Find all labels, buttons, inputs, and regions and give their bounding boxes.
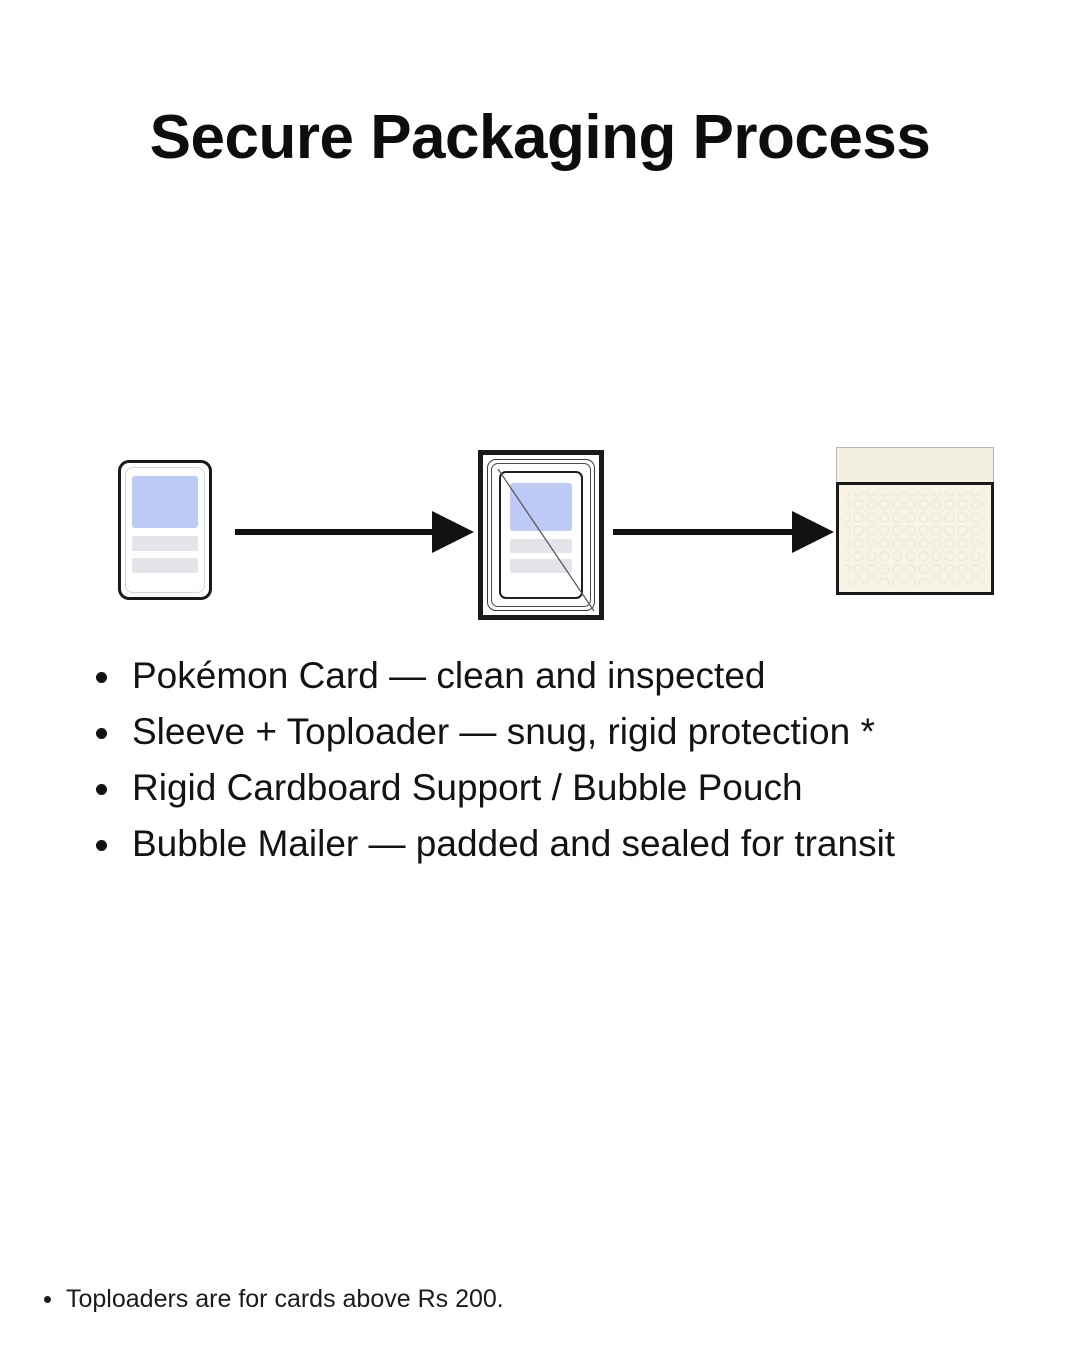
mailer-body [836, 482, 994, 595]
footnote-item: Toploaders are for cards above Rs 200. [38, 1282, 938, 1316]
packaging-flow-diagram [0, 430, 1080, 630]
list-item: Rigid Cardboard Support / Bubble Pouch [88, 760, 1048, 816]
list-item-label: Pokémon Card — clean and inspected [132, 655, 765, 696]
list-item-label: Rigid Cardboard Support / Bubble Pouch [132, 767, 803, 808]
list-item-label: Sleeve + Toploader — snug, rigid protect… [132, 711, 875, 752]
card-artwork-block [510, 483, 572, 531]
list-item: Sleeve + Toploader — snug, rigid protect… [88, 704, 1048, 760]
list-item: Pokémon Card — clean and inspected [88, 648, 1048, 704]
footnote-list: Toploaders are for cards above Rs 200. [38, 1282, 938, 1316]
card-text-line-1 [132, 536, 198, 551]
card-text-line-1 [510, 539, 572, 553]
bullet-dot-icon [96, 840, 107, 851]
pokemon-card-icon [118, 460, 212, 600]
sleeve-inner-edge [491, 463, 591, 607]
sleeved-card-icon [499, 471, 583, 599]
bullet-dot-icon [96, 672, 107, 683]
page-title: Secure Packaging Process [0, 104, 1080, 172]
bullet-dot-icon [96, 728, 107, 739]
card-artwork-block [132, 476, 198, 528]
bullet-dot-icon [96, 784, 107, 795]
card-text-line-2 [132, 558, 198, 573]
footnote-label: Toploaders are for cards above Rs 200. [66, 1285, 504, 1313]
list-item-label: Bubble Mailer — padded and sealed for tr… [132, 823, 895, 864]
packaging-steps-list: Pokémon Card — clean and inspected Sleev… [88, 648, 1048, 872]
bubble-texture [839, 485, 991, 592]
sleeve-outer-edge [487, 459, 595, 611]
card-text-line-2 [510, 559, 572, 573]
list-item: Bubble Mailer — padded and sealed for tr… [88, 816, 1048, 872]
toploader-with-sleeved-card-icon [478, 450, 604, 620]
mailer-flap [836, 447, 994, 483]
bubble-mailer-icon [836, 447, 994, 612]
bullet-dot-icon [44, 1296, 51, 1303]
